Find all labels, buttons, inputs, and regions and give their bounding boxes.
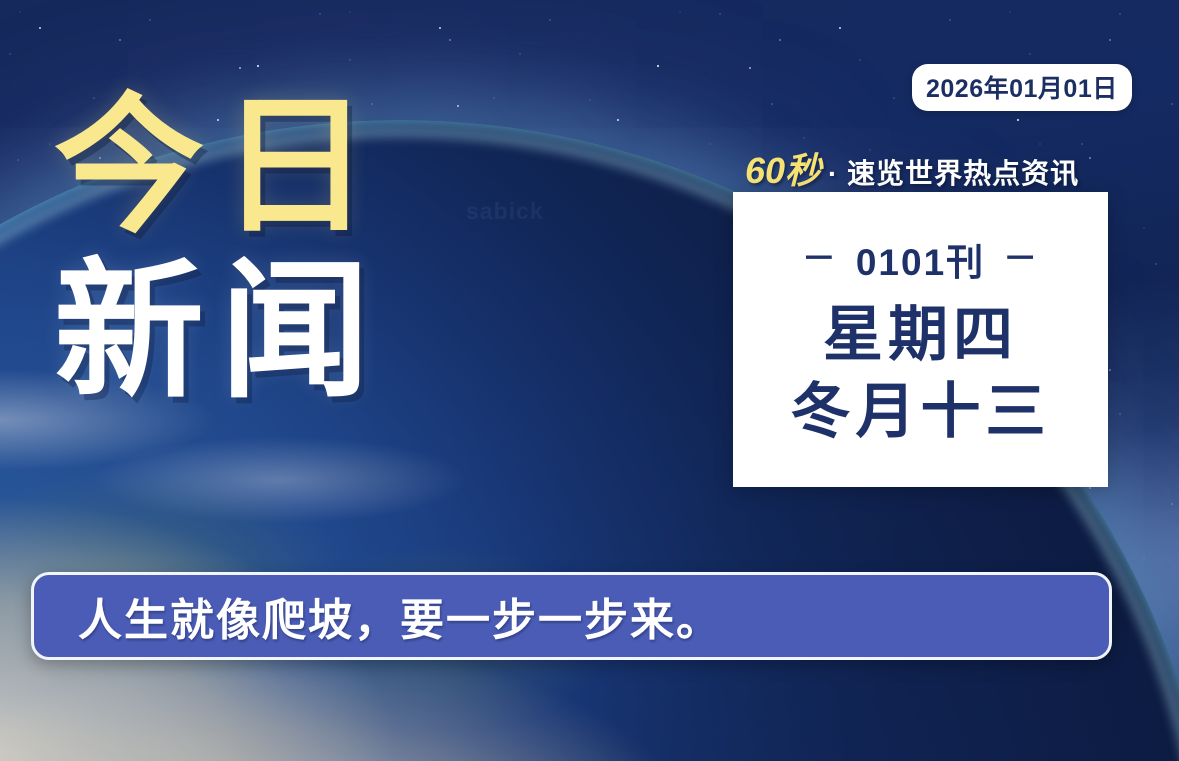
quote-text: 人生就像爬坡，要一步一步来。 <box>34 584 722 648</box>
issue-number: 0101刊 <box>856 232 985 286</box>
title-line-news: 新闻 <box>54 259 474 406</box>
info-card: － 0101刊 － 星期四 冬月十三 <box>733 192 1108 487</box>
issue-row: － 0101刊 － <box>802 232 1039 286</box>
lunar-date-label: 冬月十三 <box>791 377 1051 448</box>
page-title: 今日 新闻 <box>54 94 474 406</box>
news-poster: sabick 今日 新闻 2026年01月01日 60秒 · 速览世界热点资讯 … <box>0 0 1179 761</box>
tagline-description: · 速览世界热点资讯 <box>828 152 1079 192</box>
background-watermark: sabick <box>466 198 544 225</box>
weekday-label: 星期四 <box>823 300 1018 371</box>
quote-bar: 人生就像爬坡，要一步一步来。 <box>31 572 1112 660</box>
tagline: 60秒 · 速览世界热点资讯 <box>745 142 1079 194</box>
date-badge: 2026年01月01日 <box>912 64 1132 111</box>
tagline-seconds: 60秒 <box>745 142 821 194</box>
issue-dash-left: － <box>802 242 838 276</box>
title-line-today: 今日 <box>54 94 474 241</box>
issue-dash-right: － <box>1003 242 1039 276</box>
